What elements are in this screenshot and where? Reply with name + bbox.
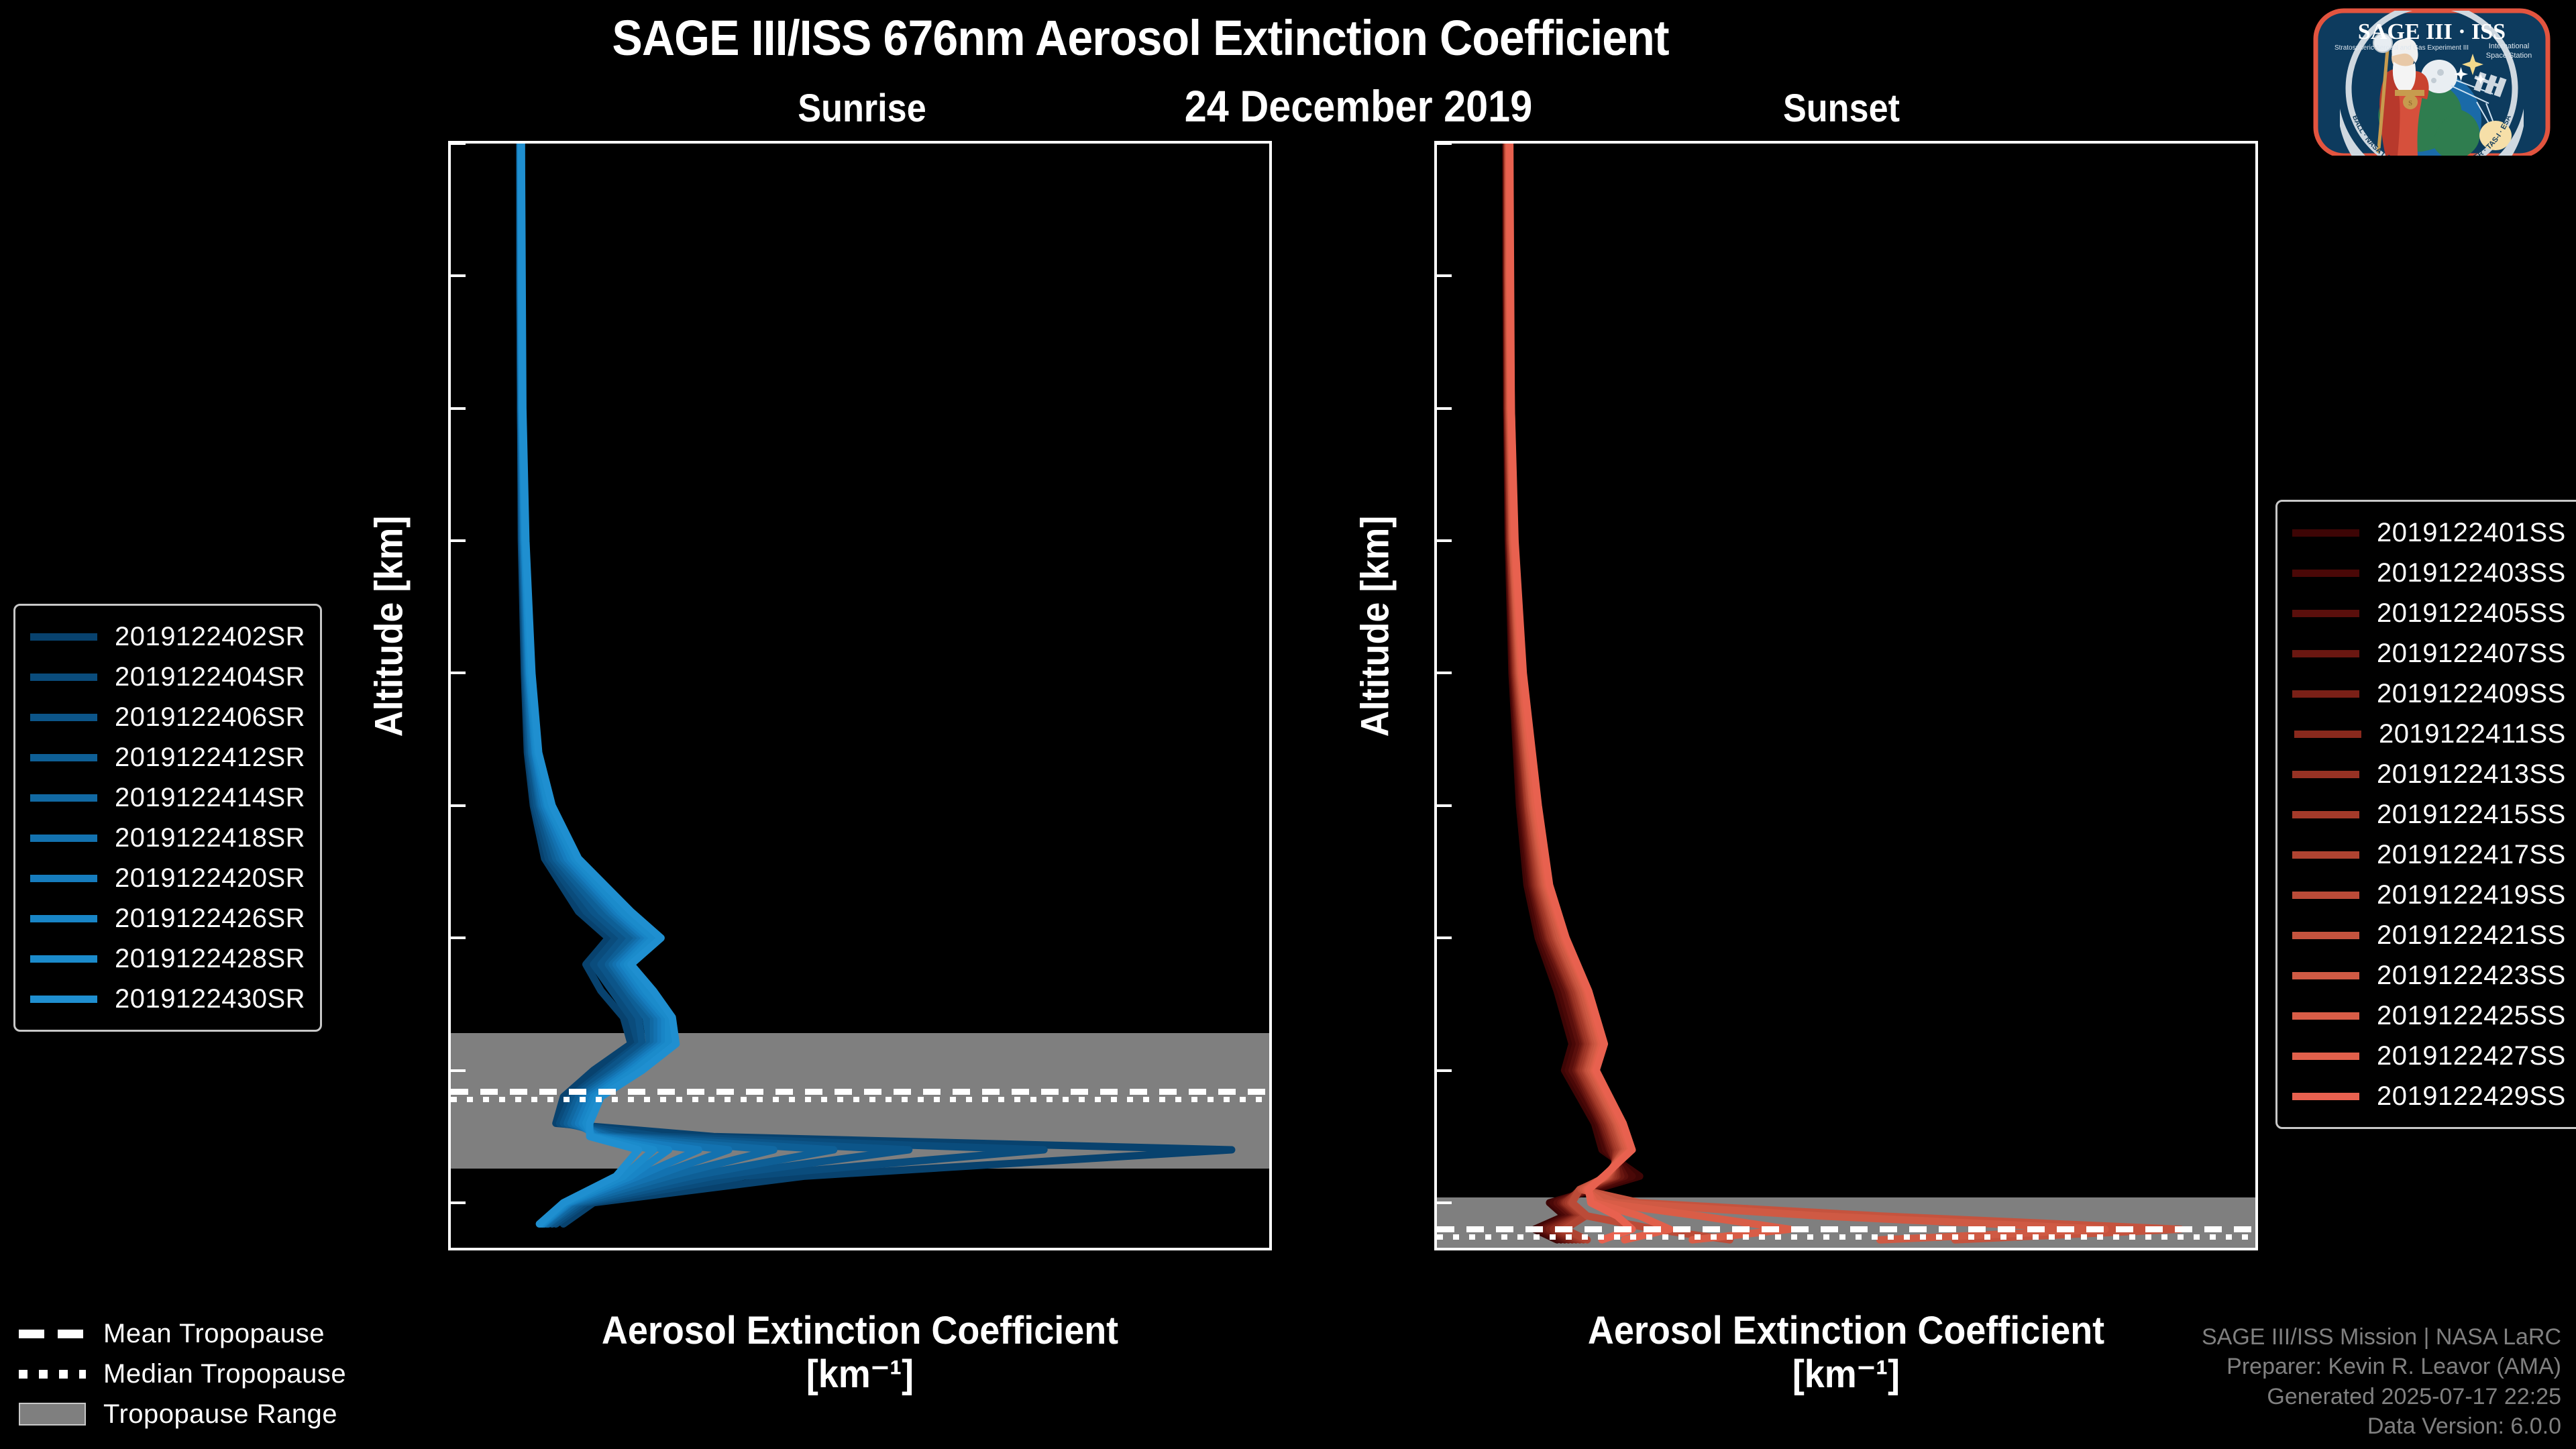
line-swatch-icon: [2292, 851, 2359, 859]
x-axis-tick-mark: [1503, 1248, 1506, 1250]
legend-sunset-label: 2019122407SS: [2377, 639, 2566, 669]
profile-line: [521, 144, 676, 1224]
line-swatch-icon: [30, 875, 97, 882]
legend-sunset-label: 2019122415SS: [2377, 800, 2566, 830]
shaded-band-icon: [19, 1403, 86, 1426]
legend-sunrise-label: 2019122406SR: [115, 702, 305, 733]
y-axis-tick-mark: [451, 539, 466, 542]
legend-sunset-item[interactable]: 2019122409SS: [2292, 674, 2566, 714]
legend-sunset-label: 2019122425SS: [2377, 1001, 2566, 1031]
legend-sunrise-label: 2019122414SR: [115, 783, 305, 813]
legend-sunset-item[interactable]: 2019122421SS: [2292, 915, 2566, 955]
series-layer: [451, 144, 1269, 1248]
x-axis-tick-mark: [1654, 1248, 1656, 1250]
legend-sunset-label: 2019122429SS: [2377, 1081, 2566, 1112]
x-axis-tick-mark: [967, 1248, 970, 1250]
legend-sunrise-item[interactable]: 2019122420SR: [30, 858, 305, 898]
panel-subtitle-sunrise: Sunrise: [681, 86, 1043, 131]
y-axis-tick-mark: [451, 672, 466, 674]
y-axis-tick-mark: [1437, 1069, 1452, 1072]
line-swatch-icon: [2292, 690, 2359, 698]
credit-line-preparer: Preparer: Kevin R. Leavor (AMA): [2202, 1352, 2561, 1381]
legend-label-range: Tropopause Range: [103, 1399, 337, 1430]
profile-line: [521, 144, 668, 1224]
x-axis-tick-mark: [1268, 1248, 1271, 1250]
legend-sunset[interactable]: 2019122401SS2019122403SS2019122405SS2019…: [2275, 500, 2576, 1129]
y-axis-title-sunset: Altitude [km]: [1353, 502, 1398, 751]
y-axis-tick-mark: [1437, 407, 1452, 410]
dashed-line-icon: [19, 1330, 86, 1338]
line-swatch-icon: [30, 835, 97, 842]
logo-subtitle-right-2: Space Station: [2486, 52, 2532, 60]
line-swatch-icon: [2292, 932, 2359, 939]
panel-subtitle-sunset: Sunset: [1660, 86, 2023, 131]
legend-sunset-item[interactable]: 2019122417SS: [2292, 835, 2566, 875]
legend-sunset-item[interactable]: 2019122429SS: [2292, 1076, 2566, 1116]
plot-sunrise: 5045403530252015100.0000.0020.0040.0060.…: [448, 141, 1272, 1250]
legend-sunset-label: 2019122419SS: [2377, 880, 2566, 910]
legend-sunrise-label: 2019122426SR: [115, 904, 305, 934]
legend-sunrise-item[interactable]: 2019122430SR: [30, 979, 305, 1019]
legend-sunrise-label: 2019122402SR: [115, 622, 305, 652]
line-swatch-icon: [2292, 529, 2359, 537]
y-axis-tick-mark: [451, 1201, 466, 1204]
legend-sunset-item[interactable]: 2019122423SS: [2292, 955, 2566, 996]
legend-item-mean-tropopause: Mean Tropopause: [19, 1313, 346, 1354]
x-axis-tick-mark: [1953, 1248, 1956, 1250]
sage-iii-iss-mission-patch-logo: S BALL · NASA LANGLEY RESEARCH CENTER · …: [2301, 8, 2563, 156]
legend-sunrise-label: 2019122418SR: [115, 823, 305, 853]
legend-sunset-item[interactable]: 2019122407SS: [2292, 633, 2566, 674]
legend-sunrise-item[interactable]: 2019122404SR: [30, 657, 305, 697]
y-axis-tick-mark: [1437, 142, 1452, 145]
legend-sunset-item[interactable]: 2019122401SS: [2292, 513, 2566, 553]
legend-sunrise-item[interactable]: 2019122418SR: [30, 818, 305, 858]
legend-sunrise-item[interactable]: 2019122414SR: [30, 777, 305, 818]
x-axis-title-sunset: Aerosol Extinction Coefficient [km⁻¹]: [1463, 1309, 2229, 1397]
line-swatch-icon: [30, 794, 97, 802]
legend-sunrise-label: 2019122420SR: [115, 863, 305, 894]
legend-sunrise-label: 2019122412SR: [115, 743, 305, 773]
profile-line: [520, 144, 909, 1224]
y-axis-tick-mark: [1437, 539, 1452, 542]
legend-item-tropopause-range: Tropopause Range: [19, 1394, 346, 1434]
legend-sunset-label: 2019122411SS: [2379, 719, 2566, 749]
line-swatch-icon: [2294, 731, 2361, 738]
mean-tropopause-line: [1437, 1226, 2255, 1232]
x-axis-tick-mark: [1803, 1248, 1806, 1250]
line-swatch-icon: [30, 955, 97, 963]
legend-sunset-item[interactable]: 2019122403SS: [2292, 553, 2566, 593]
y-axis-tick-mark: [451, 1069, 466, 1072]
legend-sunrise-item[interactable]: 2019122412SR: [30, 737, 305, 777]
line-swatch-icon: [30, 754, 97, 761]
line-swatch-icon: [30, 915, 97, 922]
legend-sunset-label: 2019122403SS: [2377, 558, 2566, 588]
legend-label-mean: Mean Tropopause: [103, 1319, 325, 1349]
legend-sunset-label: 2019122417SS: [2377, 840, 2566, 870]
line-swatch-icon: [2292, 1012, 2359, 1020]
x-axis-tick-mark: [817, 1248, 820, 1250]
profile-line: [1508, 144, 1729, 1240]
legend-sunset-item[interactable]: 2019122419SS: [2292, 875, 2566, 915]
legend-sunset-item[interactable]: 2019122413SS: [2292, 754, 2566, 794]
legend-label-median: Median Tropopause: [103, 1359, 346, 1389]
mean-tropopause-line: [451, 1089, 1269, 1095]
y-axis-tick-mark: [1437, 672, 1452, 674]
legend-sunrise-label: 2019122430SR: [115, 984, 305, 1014]
credit-line-generated: Generated 2025-07-17 22:25: [2202, 1382, 2561, 1411]
legend-sunset-label: 2019122409SS: [2377, 679, 2566, 709]
y-axis-tick-mark: [1437, 804, 1452, 807]
line-swatch-icon: [2292, 811, 2359, 818]
credit-line-mission: SAGE III/ISS Mission | NASA LaRC: [2202, 1322, 2561, 1352]
legend-sunrise[interactable]: 2019122402SR2019122404SR2019122406SR2019…: [13, 604, 322, 1032]
y-axis-tick-mark: [451, 936, 466, 939]
median-tropopause-line: [451, 1097, 1269, 1102]
legend-sunset-item[interactable]: 2019122411SS: [2292, 714, 2566, 754]
legend-sunset-item[interactable]: 2019122427SS: [2292, 1036, 2566, 1076]
y-axis-title-sunrise: Altitude [km]: [367, 502, 412, 751]
line-swatch-icon: [30, 674, 97, 681]
svg-text:S: S: [2408, 99, 2412, 107]
legend-sunrise-item[interactable]: 2019122406SR: [30, 697, 305, 737]
y-axis-tick-mark: [1437, 1201, 1452, 1204]
legend-sunrise-label: 2019122404SR: [115, 662, 305, 692]
plot-sunset: 5045403530252015100.0000.0020.0040.0060.…: [1434, 141, 2258, 1250]
profile-line: [1508, 144, 2180, 1240]
legend-sunset-label: 2019122405SS: [2377, 598, 2566, 629]
legend-sunrise-item[interactable]: 2019122402SR: [30, 616, 305, 657]
legend-sunset-item[interactable]: 2019122405SS: [2292, 593, 2566, 633]
y-axis-tick-mark: [1437, 274, 1452, 277]
credits-block: SAGE III/ISS Mission | NASA LaRC Prepare…: [2202, 1322, 2561, 1441]
legend-sunset-label: 2019122421SS: [2377, 920, 2566, 951]
profile-line: [1509, 144, 1790, 1240]
plot-area-sunset: 5045403530252015100.0000.0020.0040.0060.…: [1437, 144, 2255, 1248]
legend-sunrise-label: 2019122428SR: [115, 944, 305, 974]
y-axis-tick-mark: [451, 407, 466, 410]
x-axis-title-line2: [km⁻¹]: [1463, 1353, 2229, 1397]
date-subtitle: 24 December 2019: [1078, 80, 1640, 131]
line-swatch-icon: [2292, 892, 2359, 899]
line-swatch-icon: [30, 996, 97, 1003]
legend-sunrise-item[interactable]: 2019122426SR: [30, 898, 305, 938]
logo-subtitle-left: Stratospheric Aerosol and Gas Experiment…: [2334, 44, 2469, 52]
profile-line: [520, 144, 1044, 1224]
legend-sunset-label: 2019122401SS: [2377, 518, 2566, 548]
line-swatch-icon: [30, 633, 97, 641]
x-axis-tick-mark: [517, 1248, 520, 1250]
legend-sunset-label: 2019122413SS: [2377, 759, 2566, 790]
y-axis-tick-mark: [451, 804, 466, 807]
page-title: SAGE III/ISS 676nm Aerosol Extinction Co…: [91, 9, 2190, 66]
x-axis-title-sunrise: Aerosol Extinction Coefficient [km⁻¹]: [477, 1309, 1243, 1397]
x-axis-tick-mark: [667, 1248, 670, 1250]
line-swatch-icon: [2292, 972, 2359, 979]
line-swatch-icon: [2292, 1093, 2359, 1100]
y-axis-tick-mark: [451, 274, 466, 277]
legend-sunset-item[interactable]: 2019122425SS: [2292, 996, 2566, 1036]
x-axis-tick-mark: [2104, 1248, 2106, 1250]
line-swatch-icon: [2292, 570, 2359, 577]
y-axis-tick-mark: [1437, 936, 1452, 939]
logo-title: SAGE III · ISS: [2358, 19, 2506, 44]
legend-sunset-item[interactable]: 2019122415SS: [2292, 794, 2566, 835]
legend-sunrise-item[interactable]: 2019122428SR: [30, 938, 305, 979]
median-tropopause-line: [1437, 1234, 2255, 1240]
line-swatch-icon: [2292, 650, 2359, 657]
x-axis-title-line1: Aerosol Extinction Coefficient: [1463, 1309, 2229, 1353]
x-axis-tick-mark: [2254, 1248, 2257, 1250]
x-axis-title-line2: [km⁻¹]: [477, 1353, 1243, 1397]
legend-sunset-label: 2019122423SS: [2377, 961, 2566, 991]
line-swatch-icon: [2292, 771, 2359, 778]
legend-item-median-tropopause: Median Tropopause: [19, 1354, 346, 1394]
y-axis-tick-mark: [451, 142, 466, 145]
line-swatch-icon: [2292, 610, 2359, 617]
logo-subtitle-right-1: International: [2489, 42, 2530, 50]
dotted-line-icon: [19, 1370, 86, 1379]
line-swatch-icon: [30, 714, 97, 721]
x-axis-tick-mark: [1118, 1248, 1120, 1250]
x-axis-title-line1: Aerosol Extinction Coefficient: [477, 1309, 1243, 1353]
series-layer: [1437, 144, 2255, 1248]
profile-line: [520, 144, 834, 1224]
legend-sunset-label: 2019122427SS: [2377, 1041, 2566, 1071]
credit-line-version: Data Version: 6.0.0: [2202, 1411, 2561, 1441]
plot-area-sunrise: 5045403530252015100.0000.0020.0040.0060.…: [451, 144, 1269, 1248]
line-swatch-icon: [2292, 1053, 2359, 1060]
legend-tropopause: Mean Tropopause Median Tropopause Tropop…: [19, 1313, 346, 1434]
